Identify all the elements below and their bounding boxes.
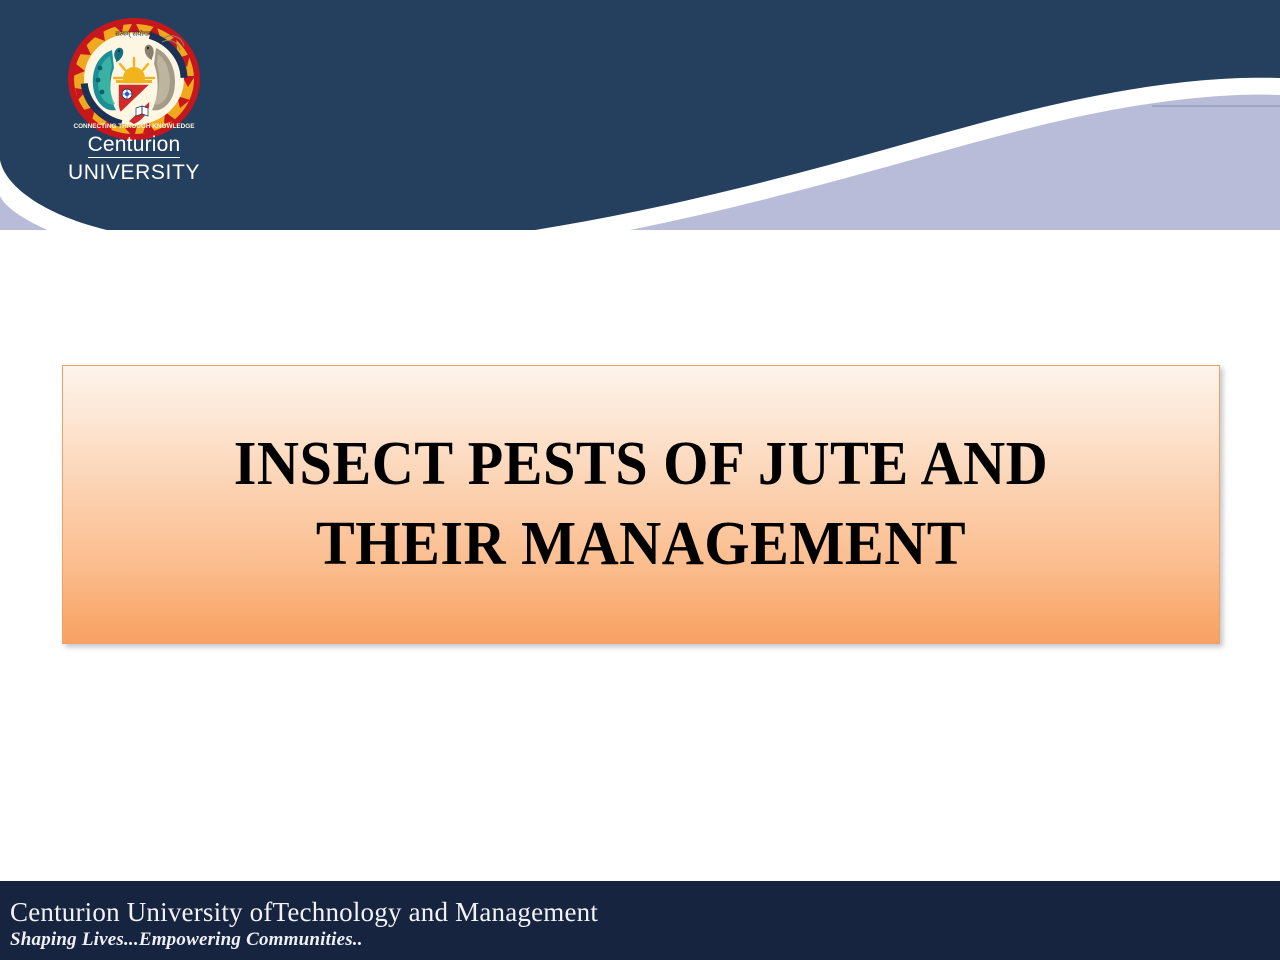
seal-sanskrit-motto: सत्यम् संयोगाय: [115, 29, 154, 38]
university-wordmark: Centurion UNIVERSITY: [0, 134, 268, 184]
footer-university-name: Centurion University ofTechnology and Ma…: [10, 897, 598, 928]
centurion-university-seal-icon: सत्यम् संयोगाय CONNECTING THROUGH KNOWLE…: [66, 16, 202, 142]
footer-bar: Centurion University ofTechnology and Ma…: [0, 881, 1280, 960]
slide-title-line-2: THEIR MANAGEMENT: [122, 505, 1160, 584]
wordmark-line-1: Centurion: [88, 134, 181, 158]
header-seam-line: [1152, 106, 1280, 107]
wordmark-line-2: UNIVERSITY: [0, 162, 268, 184]
footer-tagline: Shaping Lives...Empowering Communities..: [10, 929, 363, 951]
slide-title: INSECT PESTS OF JUTE AND THEIR MANAGEMEN…: [98, 425, 1185, 584]
presentation-slide: सत्यम् संयोगाय CONNECTING THROUGH KNOWLE…: [0, 0, 1280, 960]
slide-title-box: INSECT PESTS OF JUTE AND THEIR MANAGEMEN…: [62, 365, 1220, 644]
seal-shield-globe: [122, 89, 132, 99]
slide-title-line-1: INSECT PESTS OF JUTE AND: [122, 425, 1160, 504]
